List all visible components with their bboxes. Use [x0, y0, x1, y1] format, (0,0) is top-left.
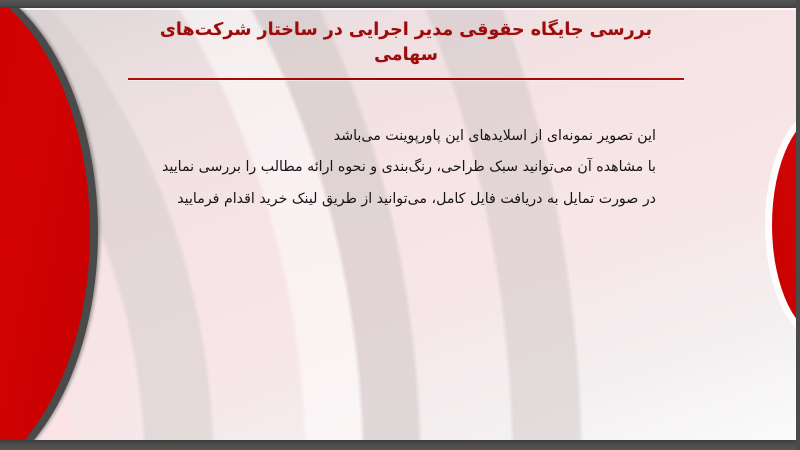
panel-top-bevel: [0, 8, 796, 10]
title-underline-rule: [128, 78, 684, 80]
slide-content-panel: بررسی جایگاه حقوقی مدیر اجرایی در ساختار…: [0, 8, 796, 440]
presentation-slide: بررسی جایگاه حقوقی مدیر اجرایی در ساختار…: [0, 0, 800, 450]
body-line-2: با مشاهده آن می‌توانید سبک طراحی، رنگ‌بن…: [136, 157, 656, 178]
slide-frame-bottom-band: [0, 440, 800, 450]
slide-body-block: این تصویر نمونه‌ای از اسلایدهای این پاور…: [136, 126, 656, 210]
slide-frame-right-band: [796, 0, 800, 450]
slide-title-block: بررسی جایگاه حقوقی مدیر اجرایی در ساختار…: [126, 18, 686, 80]
body-line-3: در صورت تمایل به دریافت فایل کامل، می‌تو…: [136, 189, 656, 210]
slide-frame-top-band: [0, 0, 800, 8]
body-line-1: این تصویر نمونه‌ای از اسلایدهای این پاور…: [136, 126, 656, 147]
slide-title: بررسی جایگاه حقوقی مدیر اجرایی در ساختار…: [126, 18, 686, 69]
